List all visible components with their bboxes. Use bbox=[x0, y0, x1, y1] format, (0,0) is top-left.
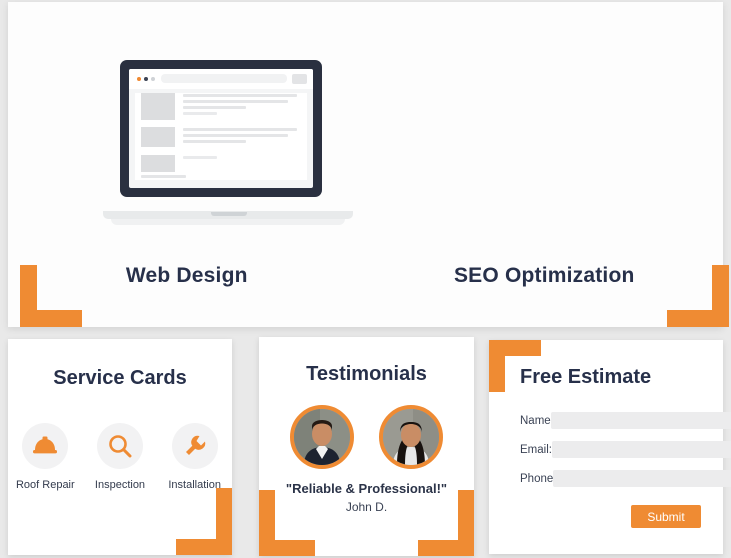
corner-bracket-testimonials-bottom-right bbox=[418, 490, 474, 556]
content-lines bbox=[183, 156, 297, 162]
corner-bracket-estimate-top-left bbox=[489, 340, 541, 392]
testimonials-title: Testimonials bbox=[259, 363, 474, 386]
service-item-inspection[interactable]: Inspection bbox=[87, 423, 153, 491]
service-item-label: Roof Repair bbox=[12, 479, 78, 491]
content-row bbox=[135, 127, 307, 149]
content-thumbnail bbox=[141, 93, 175, 120]
magnifier-icon bbox=[97, 423, 143, 469]
wrench-icon bbox=[172, 423, 218, 469]
form-row-email: Email: bbox=[520, 441, 701, 458]
browser-chrome bbox=[129, 69, 313, 89]
corner-bracket-testimonials-bottom-left bbox=[259, 490, 315, 556]
laptop-illustration bbox=[103, 60, 353, 225]
corner-bracket-bottom-left bbox=[20, 265, 82, 327]
content-footer-line bbox=[141, 175, 186, 178]
corner-bracket-services-bottom-right bbox=[176, 488, 232, 555]
service-items-row: Roof Repair Inspection Installation bbox=[8, 423, 232, 491]
corner-bracket-bottom-right bbox=[667, 265, 729, 327]
service-item-label: Inspection bbox=[87, 479, 153, 491]
laptop-screen bbox=[129, 69, 313, 188]
content-row bbox=[135, 93, 307, 121]
content-lines bbox=[183, 128, 297, 146]
name-label: Name bbox=[520, 415, 551, 427]
testimonial-avatars bbox=[259, 405, 474, 469]
browser-dot-dark-icon bbox=[144, 77, 148, 81]
service-cards-title: Service Cards bbox=[8, 367, 232, 390]
browser-dot-light-icon bbox=[151, 77, 155, 81]
content-thumbnail bbox=[141, 127, 175, 147]
email-label: Email: bbox=[520, 444, 552, 456]
service-item-roof-repair[interactable]: Roof Repair bbox=[12, 423, 78, 491]
content-row bbox=[135, 155, 307, 175]
form-row-phone: Phone bbox=[520, 470, 701, 487]
content-thumbnail bbox=[141, 155, 175, 172]
browser-page-content bbox=[135, 93, 307, 180]
laptop-lid bbox=[120, 60, 322, 197]
name-field[interactable] bbox=[551, 412, 731, 429]
hard-hat-icon bbox=[22, 423, 68, 469]
laptop-notch bbox=[211, 212, 247, 216]
browser-dot-orange-icon bbox=[137, 77, 141, 81]
phone-field[interactable] bbox=[553, 470, 731, 487]
hero-panel: Web Design bbox=[8, 2, 723, 327]
browser-action-button bbox=[292, 74, 307, 84]
email-field[interactable] bbox=[552, 441, 731, 458]
service-item-installation[interactable]: Installation bbox=[162, 423, 228, 491]
phone-label: Phone bbox=[520, 473, 553, 485]
estimate-form: Name Email: Phone bbox=[520, 412, 701, 499]
avatar-female[interactable] bbox=[379, 405, 443, 469]
page-root: Web Design bbox=[0, 0, 731, 558]
content-lines bbox=[183, 94, 297, 118]
form-row-name: Name bbox=[520, 412, 701, 429]
submit-button[interactable]: Submit bbox=[631, 505, 701, 528]
browser-url-bar bbox=[161, 74, 287, 83]
laptop-foot bbox=[111, 219, 345, 225]
avatar-male[interactable] bbox=[290, 405, 354, 469]
